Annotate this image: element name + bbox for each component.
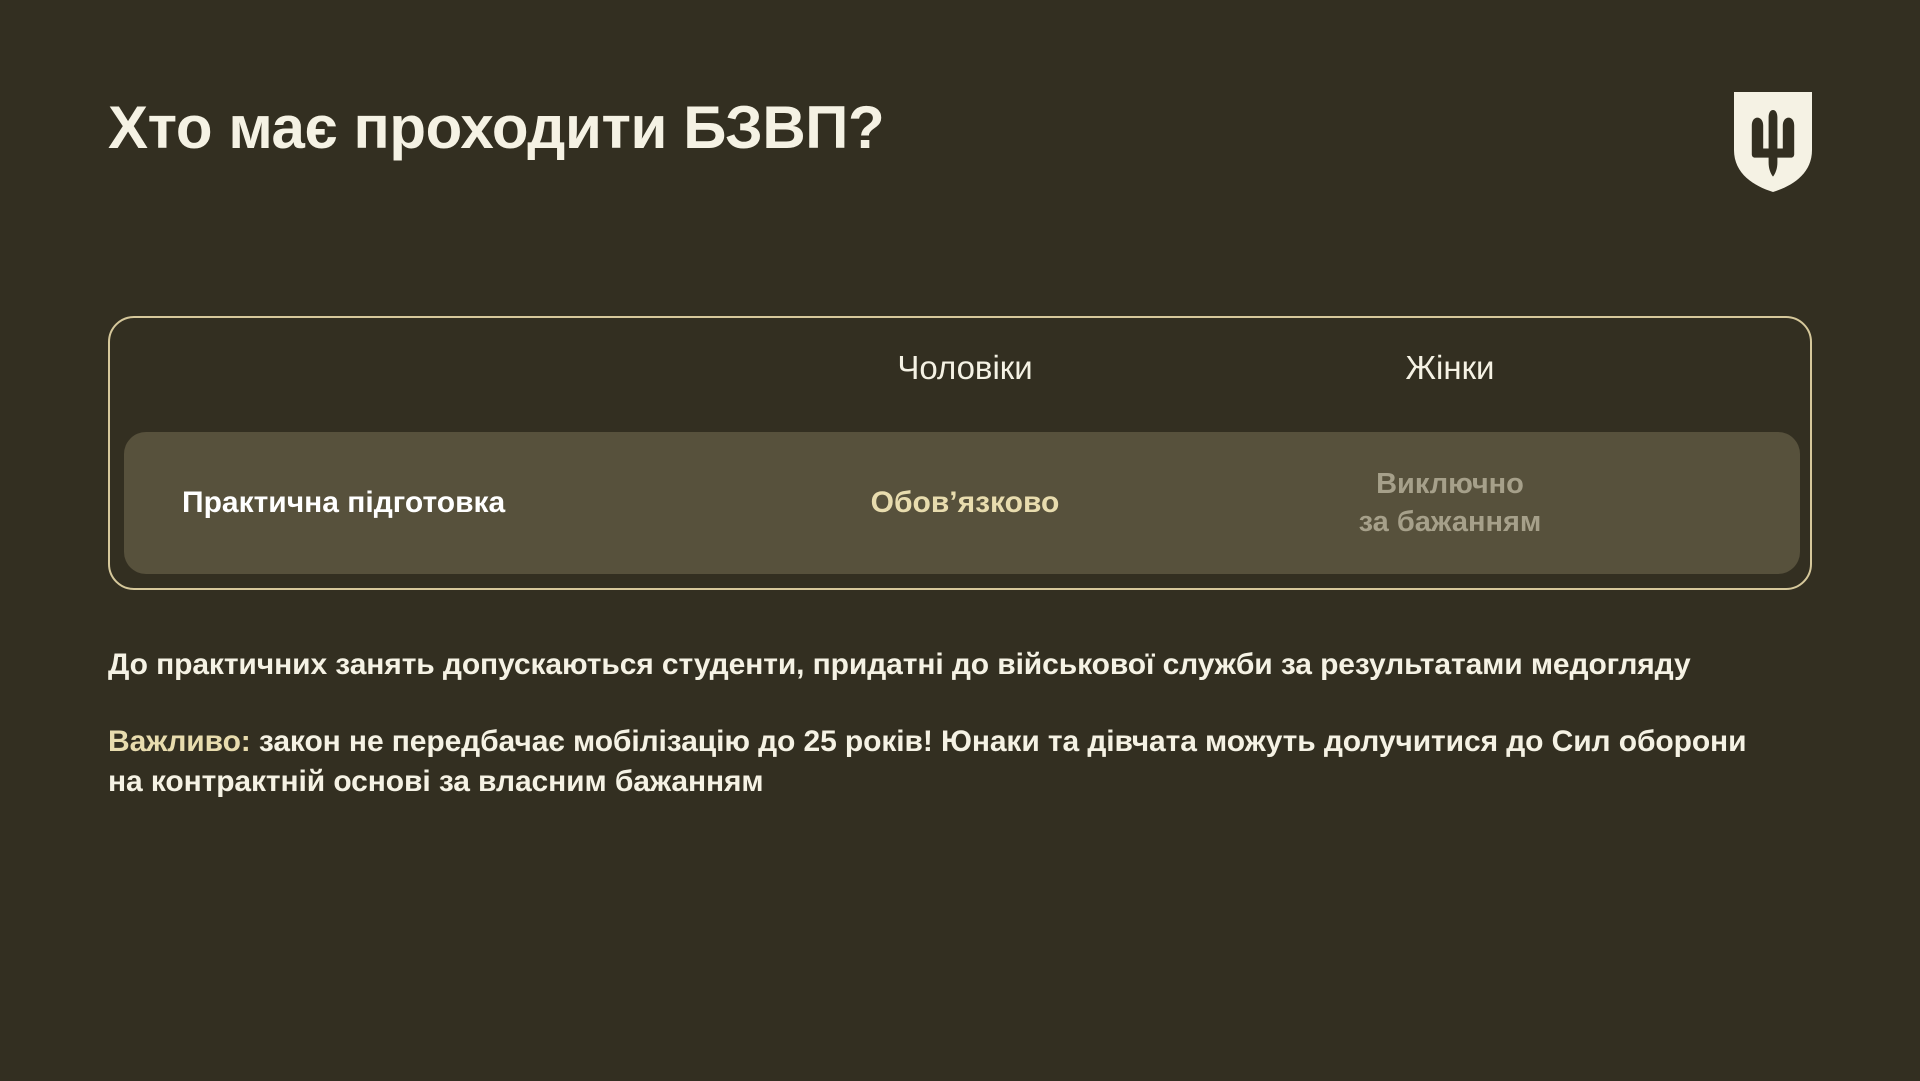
slide-root: Хто має проходити БЗВП? Чоловіки Жінки П… <box>0 0 1920 1081</box>
column-header-women: Жінки <box>1200 350 1700 386</box>
women-value-line-2: за бажанням <box>1359 506 1542 538</box>
comparison-table-card: Чоловіки Жінки Практична підготовка Обов… <box>108 316 1812 590</box>
table-row: Практична підготовка Обов’язково Виключн… <box>124 432 1800 574</box>
table-cell-men-value: Обов’язково <box>730 485 1200 521</box>
notes-section: До практичних занять допускаються студен… <box>108 645 1788 802</box>
header: Хто має проходити БЗВП? <box>108 96 1812 206</box>
table-cell-women-value: Виключно за бажанням <box>1200 465 1700 542</box>
women-value-line-1: Виключно <box>1376 468 1524 500</box>
ukraine-trident-shield-icon <box>1734 92 1812 192</box>
important-text: закон не передбачає мобілізацію до 25 ро… <box>108 725 1746 798</box>
table-column-headers: Чоловіки Жінки <box>110 340 1810 396</box>
note-paragraph-eligibility: До практичних занять допускаються студен… <box>108 645 1788 685</box>
column-header-men: Чоловіки <box>730 350 1200 386</box>
table-cell-category: Практична підготовка <box>124 485 730 521</box>
note-paragraph-important: Важливо: закон не передбачає мобілізацію… <box>108 722 1788 802</box>
page-title: Хто має проходити БЗВП? <box>108 96 1812 159</box>
important-label: Важливо: <box>108 725 251 758</box>
